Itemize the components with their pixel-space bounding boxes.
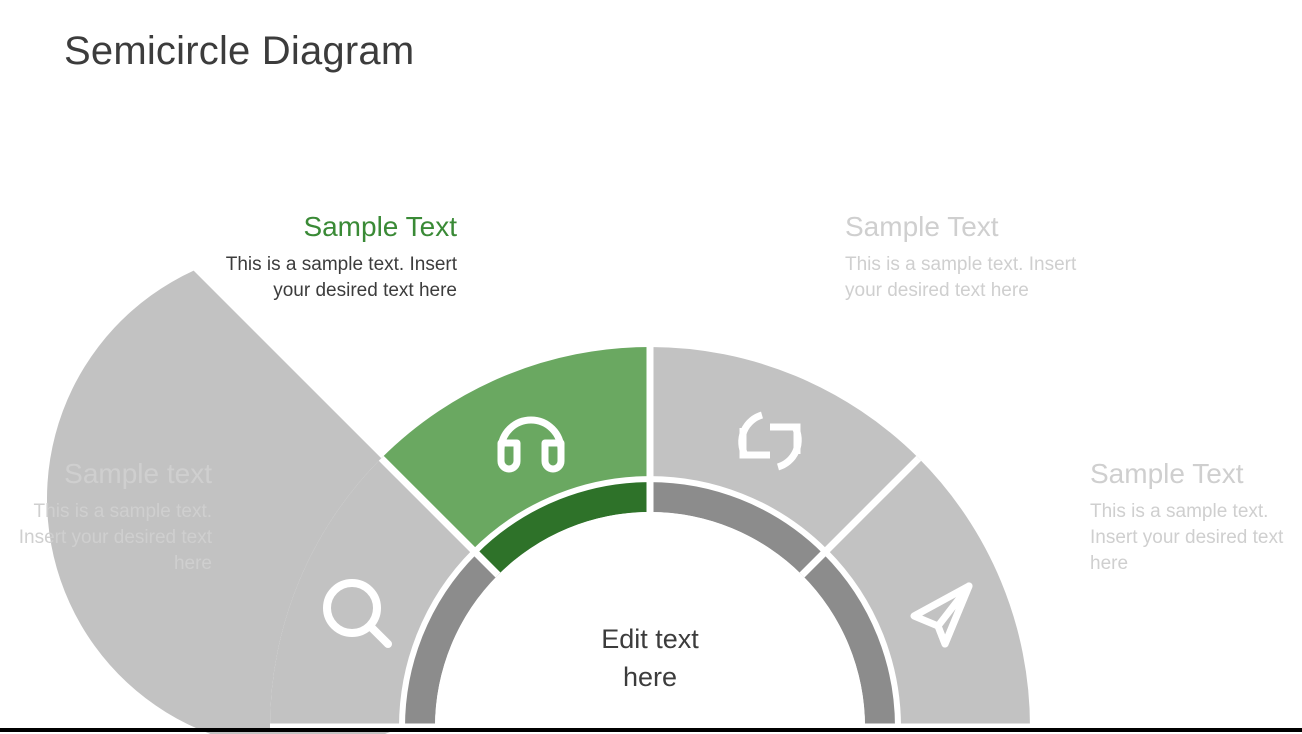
label-heading-send: Sample Text (1090, 457, 1302, 491)
label-block-send: Sample Text This is a sample text. Inser… (1090, 457, 1302, 577)
label-block-sync: Sample Text This is a sample text. Inser… (845, 210, 1112, 304)
label-body-sync: This is a sample text. Insert your desir… (845, 244, 1112, 304)
bottom-rule (0, 728, 1302, 732)
slide-canvas: Semicircle Diagram (0, 0, 1302, 734)
center-edit-text-line2: here (530, 658, 770, 696)
label-body-headphones: This is a sample text. Insert your desir… (190, 244, 457, 304)
label-body-search: This is a sample text. Insert your desir… (0, 491, 212, 577)
center-edit-text-line1: Edit text (530, 620, 770, 658)
label-heading-sync: Sample Text (845, 210, 1112, 244)
label-block-search: Sample text This is a sample text. Inser… (0, 457, 212, 577)
label-block-headphones: Sample Text This is a sample text. Inser… (190, 210, 457, 304)
center-edit-text[interactable]: Edit text here (530, 620, 770, 696)
label-heading-search: Sample text (0, 457, 212, 491)
label-body-send: This is a sample text. Insert your desir… (1090, 491, 1302, 577)
label-heading-headphones: Sample Text (190, 210, 457, 244)
